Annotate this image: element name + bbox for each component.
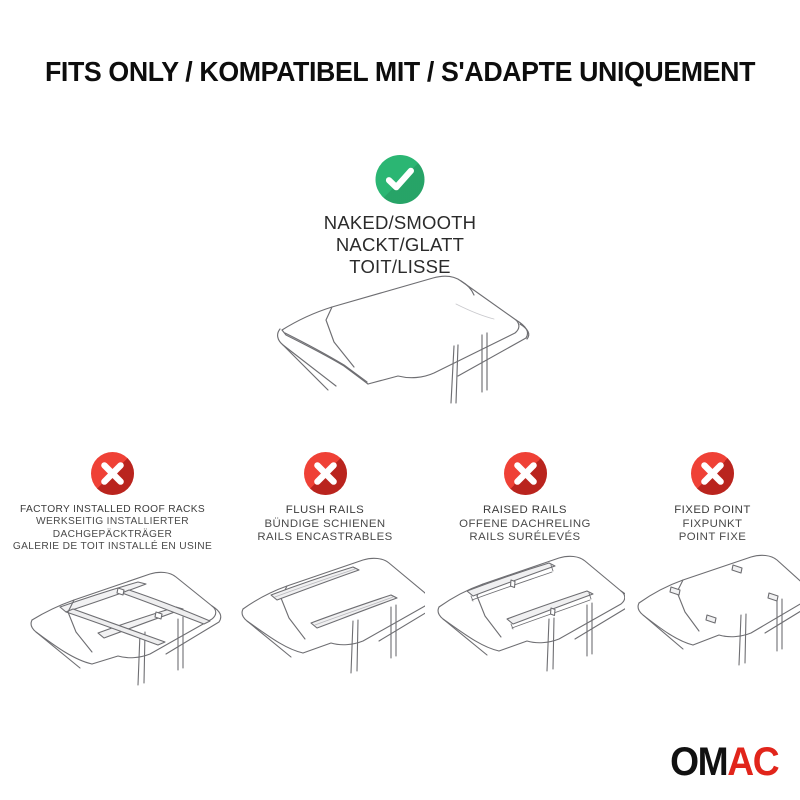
logo-text-ac: AC [727,740,778,784]
car-roof-factory-rack-drawing [0,560,225,710]
incompatible-row: FACTORY INSTALLED ROOF RACKS WERKSEITIG … [0,452,800,710]
item-label-fr: RAILS ENCASTRABLES [225,531,425,545]
x-glyph [91,452,134,495]
car-roof-factory-rack-illustration [0,560,225,710]
red-x-icon [691,452,734,495]
item-label-en: FLUSH RAILS [225,504,425,518]
car-roof-flush-rails-drawing [225,551,425,701]
x-glyph [304,452,347,495]
item-label: FIXED POINT FIXPUNKT POINT FIXE [625,504,800,545]
incompatible-item-raised-rails: RAISED RAILS OFFENE DACHRELING RAILS SUR… [425,452,625,710]
item-label-fr: POINT FIXE [625,531,800,545]
item-label-de1: WERKSEITIG INSTALLIERTER [0,516,225,528]
car-roof-flush-rails-illustration [225,551,425,701]
item-label-fr: GALERIE DE TOIT INSTALLÉ EN USINE [0,541,225,553]
item-label-fr: RAILS SURÉLEVÉS [425,531,625,545]
car-roof-fixed-point-illustration [625,551,800,701]
compatible-icon-wrapper [376,155,425,204]
item-label: FLUSH RAILS BÜNDIGE SCHIENEN RAILS ENCAS… [225,504,425,545]
item-label-de2: DACHGEPÄCKTRÄGER [0,529,225,541]
item-label: FACTORY INSTALLED ROOF RACKS WERKSEITIG … [0,504,225,554]
red-x-icon [304,452,347,495]
car-roof-naked-smooth-drawing [258,272,558,407]
omac-logo: OMAC [670,742,778,782]
item-label-en: FACTORY INSTALLED ROOF RACKS [0,504,225,516]
item-label-en: FIXED POINT [625,504,800,518]
car-roof-raised-rails-drawing [425,551,625,701]
compatible-label: NAKED/SMOOTH NACKT/GLATT TOIT/LISSE [0,212,800,278]
item-label-en: RAISED RAILS [425,504,625,518]
incompatible-item-factory-rack: FACTORY INSTALLED ROOF RACKS WERKSEITIG … [0,452,225,710]
red-x-icon [504,452,547,495]
red-x-icon [91,452,134,495]
item-label-de: OFFENE DACHRELING [425,518,625,532]
compatible-label-en: NAKED/SMOOTH [0,212,800,234]
compatible-label-de: NACKT/GLATT [0,234,800,256]
item-label-de: BÜNDIGE SCHIENEN [225,518,425,532]
check-glyph [376,155,425,204]
x-glyph [504,452,547,495]
car-roof-raised-rails-illustration [425,551,625,701]
logo-text-om: OM [670,740,727,784]
page-title: FITS ONLY / KOMPATIBEL MIT / S'ADAPTE UN… [18,56,782,88]
incompatible-item-fixed-point: FIXED POINT FIXPUNKT POINT FIXE [625,452,800,710]
car-roof-naked-smooth-illustration [258,272,558,407]
x-glyph [691,452,734,495]
item-label-de: FIXPUNKT [625,518,800,532]
car-roof-fixed-point-drawing [625,551,800,701]
green-check-icon [376,155,425,204]
item-label: RAISED RAILS OFFENE DACHRELING RAILS SUR… [425,504,625,545]
incompatible-item-flush-rails: FLUSH RAILS BÜNDIGE SCHIENEN RAILS ENCAS… [225,452,425,710]
